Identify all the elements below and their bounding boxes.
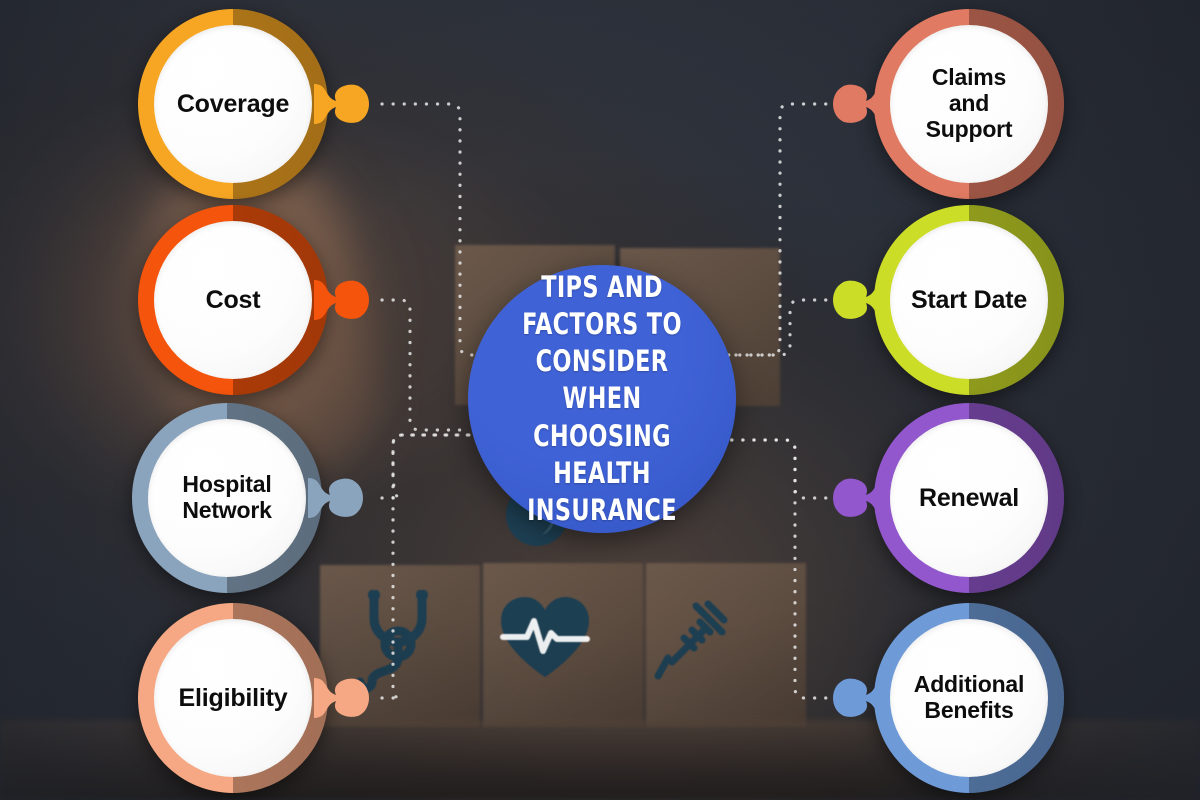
node-label: Cost	[196, 286, 271, 314]
node-face: Additional Benefits	[890, 619, 1048, 777]
connector-knob	[826, 277, 888, 323]
node-face: Start Date	[890, 221, 1048, 379]
node-eligibility[interactable]: Eligibility	[138, 603, 328, 793]
node-face: Coverage	[154, 25, 312, 183]
node-face: Claims and Support	[890, 25, 1048, 183]
connector-knob	[308, 475, 370, 521]
node-label: Claims and Support	[916, 65, 1023, 142]
connector-knob	[314, 277, 376, 323]
connector-knob	[826, 81, 888, 127]
node-renewal[interactable]: Renewal	[874, 403, 1064, 593]
node-cost[interactable]: Cost	[138, 205, 328, 395]
node-start-date[interactable]: Start Date	[874, 205, 1064, 395]
node-face: Hospital Network	[148, 419, 306, 577]
node-label: Start Date	[901, 286, 1037, 314]
hub-circle[interactable]: TIPS AND FACTORS TO CONSIDER WHEN CHOOSI…	[468, 265, 736, 533]
node-face: Eligibility	[154, 619, 312, 777]
connector-knob	[314, 675, 376, 721]
node-additional-benefits[interactable]: Additional Benefits	[874, 603, 1064, 793]
node-label: Hospital Network	[172, 472, 281, 524]
node-label: Coverage	[167, 90, 299, 118]
connector-knob	[314, 81, 376, 127]
connector-knob	[826, 475, 888, 521]
node-label: Renewal	[909, 484, 1029, 512]
node-coverage[interactable]: Coverage	[138, 9, 328, 199]
node-face: Renewal	[890, 419, 1048, 577]
connector-knob	[826, 675, 888, 721]
infographic-canvas: Coverage Cost Hospital Network	[0, 0, 1200, 800]
node-label: Eligibility	[169, 684, 298, 712]
node-hospital-network[interactable]: Hospital Network	[132, 403, 322, 593]
node-claims-and-support[interactable]: Claims and Support	[874, 9, 1064, 199]
node-label: Additional Benefits	[904, 672, 1034, 724]
node-face: Cost	[154, 221, 312, 379]
hub-title: TIPS AND FACTORS TO CONSIDER WHEN CHOOSI…	[487, 269, 717, 529]
